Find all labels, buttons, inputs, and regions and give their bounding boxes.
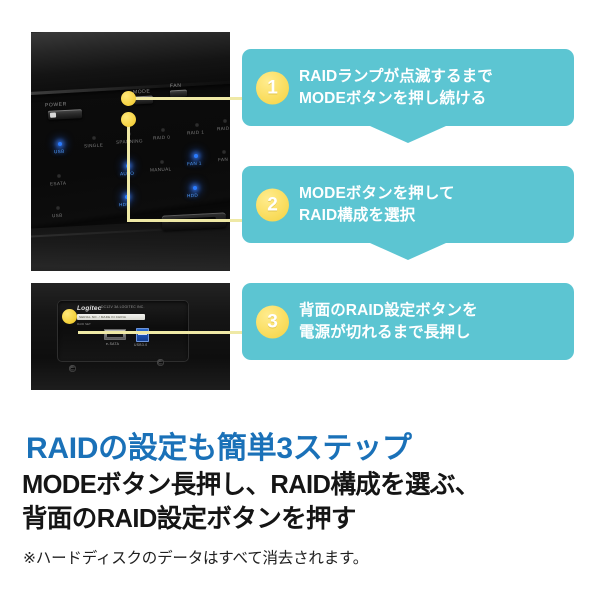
infographic-page: POWER MODE FAN USB ESATA USB SINGLE SPAN… (0, 0, 600, 600)
step-text-3: 背面のRAID設定ボタンを 電源が切れるまで長押し (299, 300, 478, 344)
step-text-1: RAIDランプが点滅するまで MODEボタンを押し続ける (299, 66, 493, 110)
front-bezel-top (31, 32, 230, 96)
led-usb-secondary (56, 206, 60, 210)
rear-spec-text: DC12V 3A LOGITEC INC. (101, 305, 145, 309)
led-single (92, 136, 96, 140)
led-manual-label: MANUAL (150, 166, 172, 172)
connector-dot-step1 (121, 91, 136, 106)
mode-button-label: MODE (133, 89, 151, 96)
connector-line-step2-vertical (127, 125, 130, 222)
step-arrow-1-to-2 (370, 126, 446, 143)
led-fan-edge (222, 150, 226, 154)
led-usb-secondary-label: USB (52, 213, 63, 219)
led-hdd-b-label: HDD (187, 193, 198, 199)
esata-port-label: e-SATA (106, 342, 119, 346)
step-badge-1: 1 (256, 71, 289, 104)
power-button (48, 109, 82, 120)
connector-dot-step2 (121, 112, 136, 127)
step-badge-2: 2 (256, 188, 289, 221)
led-fan1 (194, 154, 198, 158)
fan-button-label: FAN (170, 83, 182, 90)
led-manual (160, 160, 164, 164)
led-fan-edge-label: FAN (218, 157, 228, 163)
led-usb (58, 142, 62, 146)
subheadline: MODEボタン長押し、RAID構成を選ぶ、 背面のRAID設定ボタンを押す (22, 468, 480, 536)
led-esata (57, 174, 61, 178)
connector-line-step1 (132, 97, 257, 100)
led-fan1-label: FAN 1 (187, 161, 202, 167)
led-raid-edge-label: RAID (217, 126, 230, 132)
step-badge-3: 3 (256, 305, 289, 338)
step-box-1[interactable]: 1 RAIDランプが点滅するまで MODEボタンを押し続ける (242, 49, 574, 126)
step-arrow-2-to-3 (370, 243, 446, 260)
step-text-2: MODEボタンを押して RAID構成を選択 (299, 183, 455, 227)
led-raid0 (161, 128, 165, 132)
footnote: ※ハードディスクのデータはすべて消去されます。 (23, 546, 368, 568)
raid-setting-button-marker (62, 309, 77, 324)
led-raid-edge (223, 119, 227, 123)
led-raid1 (195, 123, 199, 127)
rear-panel-photo: Logitec DC12V 3A LOGITEC INC. SERIAL NO.… (31, 283, 230, 390)
led-raid0-label: RAID 0 (153, 135, 170, 141)
rear-serial-text: SERIAL NO. / MADE IN CHINA (79, 315, 126, 319)
led-hdd-b (193, 186, 197, 190)
connector-line-step2-horizontal (127, 219, 257, 222)
power-button-label: POWER (45, 101, 67, 108)
step-box-3[interactable]: 3 背面のRAID設定ボタンを 電源が切れるまで長押し (242, 283, 574, 360)
rear-screw-right (157, 359, 164, 366)
led-usb-label: USB (54, 149, 65, 155)
rear-screw-left (69, 365, 76, 372)
led-single-label: SINGLE (84, 142, 103, 148)
headline: RAIDの設定も簡単3ステップ (26, 423, 412, 467)
brand-logo: Logitec (77, 305, 102, 312)
rear-sub-text: RAID SET (77, 322, 91, 326)
usb3-port-label: USB3.0 (134, 343, 148, 347)
led-esata-label: ESATA (50, 181, 67, 187)
led-raid1-label: RAID 1 (187, 130, 204, 136)
connector-line-step3 (78, 331, 257, 334)
step-box-2[interactable]: 2 MODEボタンを押して RAID構成を選択 (242, 166, 574, 243)
front-panel-photo: POWER MODE FAN USB ESATA USB SINGLE SPAN… (31, 32, 230, 271)
